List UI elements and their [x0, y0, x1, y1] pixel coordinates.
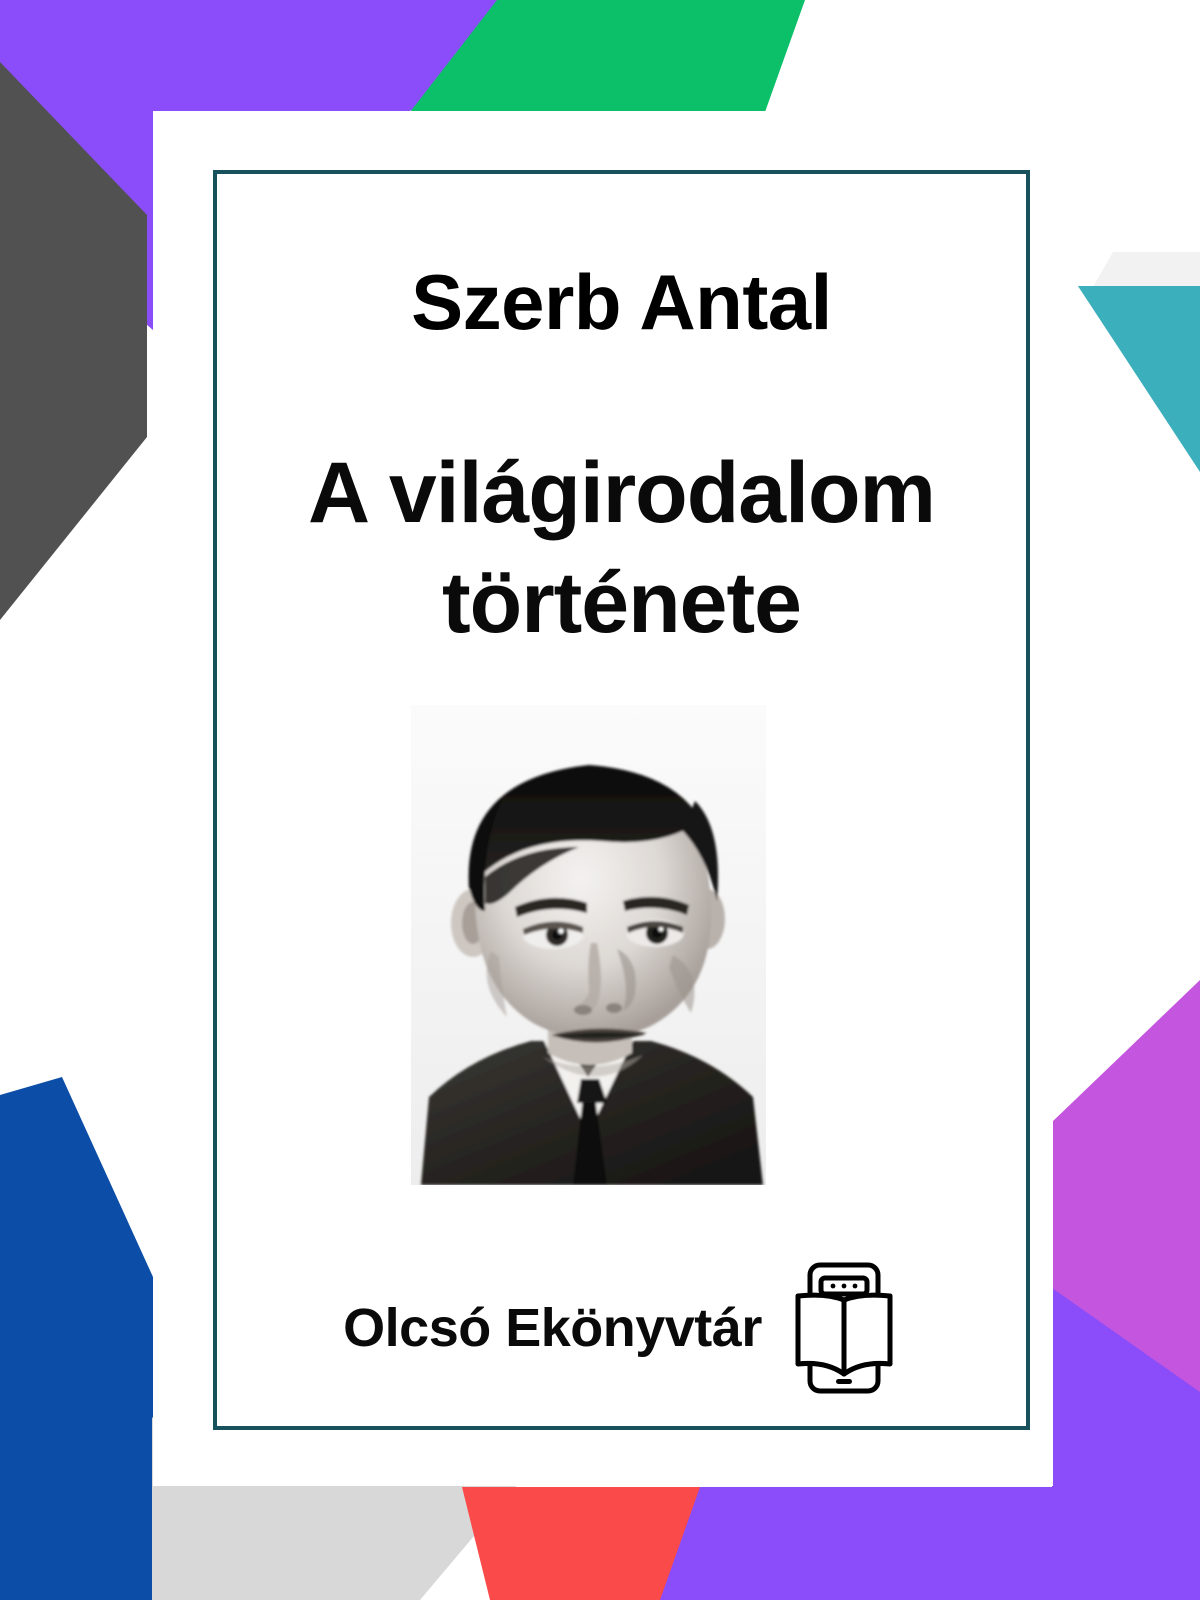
book-cover: Szerb Antal A világirodalom története [0, 0, 1200, 1600]
imprint-label: Olcsó Ekönyvtár [343, 1297, 762, 1359]
author-name: Szerb Antal [213, 262, 1030, 344]
author-portrait-photo [411, 705, 766, 1185]
red-bottom-trapezoid-shape [462, 1487, 700, 1600]
book-title-line-1: A világirodalom [243, 438, 1000, 548]
book-title-line-2: története [243, 548, 1000, 658]
book-title: A világirodalom története [243, 438, 1000, 658]
ereader-open-book-logo-icon [788, 1260, 900, 1396]
imprint-row: Olcsó Ekönyvtár [213, 1268, 1030, 1388]
